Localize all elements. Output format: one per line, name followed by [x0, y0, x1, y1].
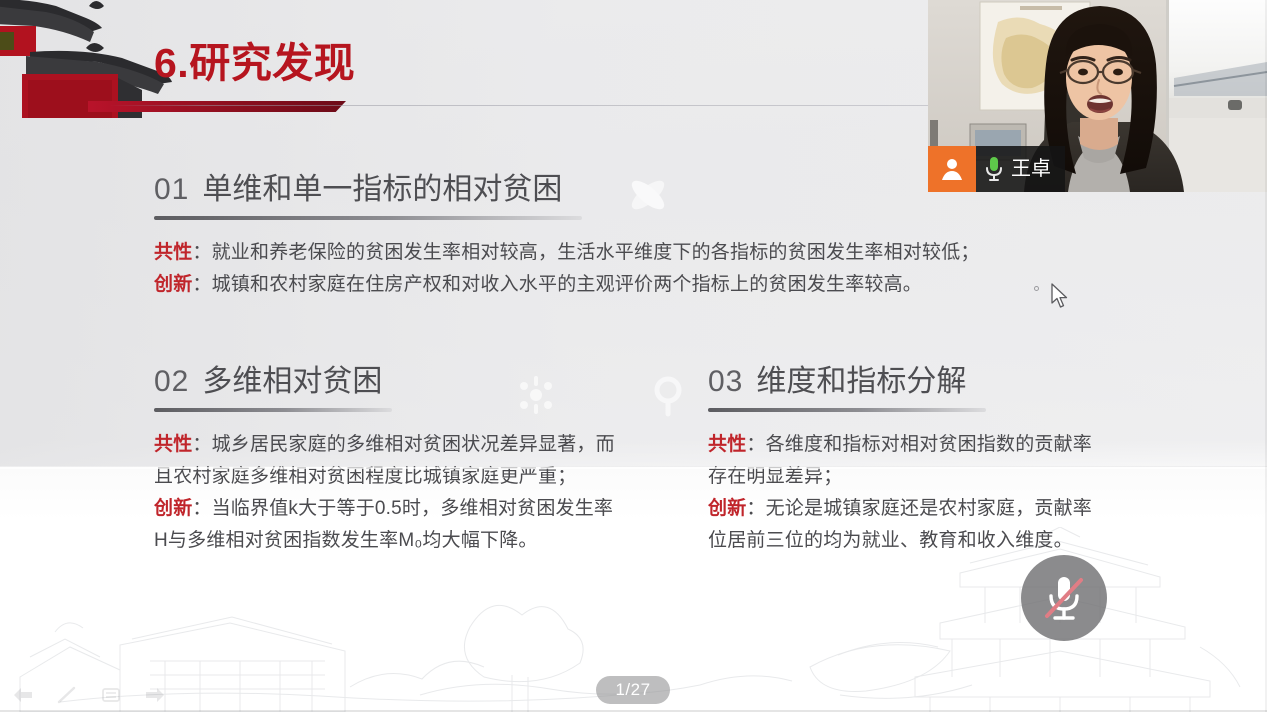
name-chip: 王卓 [976, 146, 1065, 192]
section-03-line-2: 创新：无论是城镇家庭还是农村家庭，贡献率位居前三位的均为就业、教育和收入维度。 [708, 493, 1100, 557]
section-02-line-2-tag: 创新 [154, 498, 192, 519]
section-02-body: 共性：城乡居民家庭的多维相对贫困状况差异显著，而且农村家庭多维相对贫困程度比城镇… [154, 429, 624, 557]
section-03-line-1: 共性：各维度和指标对相对贫困指数的贡献率存在明显差异； [708, 429, 1100, 493]
section-02-line-1-tag: 共性 [154, 434, 192, 455]
mute-status-button[interactable] [1021, 555, 1107, 641]
section-01-line-1-text: 就业和养老保险的贫困发生率相对较高，生活水平维度下的各指标的贫困发生率相对较低； [212, 242, 980, 263]
participant-name-strip: 王卓 [928, 146, 1065, 192]
background-seam-highlight [0, 467, 1267, 469]
section-02-line-2: 创新：当临界值k大于等于0.5时，多维相对贫困发生率H与多维相对贫困指数发生率M… [154, 493, 618, 557]
section-01-body: 共性：就业和养老保险的贫困发生率相对较高，生活水平维度下的各指标的贫困发生率相对… [154, 237, 774, 301]
microphone-icon [984, 156, 1004, 182]
section-01-number: 01 [154, 170, 189, 210]
section-02-heading: 02 多维相对贫困 [154, 362, 624, 402]
section-01-line-2-sep: ： [192, 274, 211, 295]
section-01-title: 单维和单一指标的相对贫困 [202, 170, 562, 210]
participant-video-tile[interactable]: 王卓 [928, 0, 1267, 192]
section-02-line-1: 共性：城乡居民家庭的多维相对贫困状况差异显著，而且农村家庭多维相对贫困程度比城镇… [154, 429, 618, 493]
section-02-number: 02 [154, 362, 189, 402]
section-01-line-2-tag: 创新 [154, 274, 192, 295]
section-03-line-2-tag: 创新 [708, 498, 746, 519]
section-03-body: 共性：各维度和指标对相对贫困指数的贡献率存在明显差异； 创新：无论是城镇家庭还是… [708, 429, 1108, 557]
section-03-title: 维度和指标分解 [756, 362, 966, 402]
pen-icon[interactable] [52, 682, 82, 708]
mouse-cursor [1050, 283, 1070, 309]
cursor-dot-marker [1034, 286, 1039, 291]
meeting-screen-share: 6.研究发现 01 单维和单一指标的相对贫困 共性：就业和养老保险的贫困发生率相… [0, 0, 1267, 712]
section-03-line-1-sep: ： [746, 434, 765, 455]
page-title: 6.研究发现 [154, 36, 355, 90]
section-01-heading: 01 单维和单一指标的相对贫困 [154, 170, 774, 210]
microphone-muted-icon [1040, 572, 1088, 624]
section-02-line-1-text: 城乡居民家庭的多维相对贫困状况差异显著，而且农村家庭多维相对贫困程度比城镇家庭更… [154, 434, 615, 487]
section-03: 03 维度和指标分解 共性：各维度和指标对相对贫困指数的贡献率存在明显差异； 创… [708, 362, 1108, 557]
participant-name: 王卓 [1011, 146, 1051, 192]
page-indicator[interactable]: 1/27 [596, 676, 670, 704]
section-03-line-2-sep: ： [746, 498, 765, 519]
section-01-line-1-sep: ： [192, 242, 211, 263]
slide-toolbar-icons [8, 682, 170, 708]
section-01-line-1-tag: 共性 [154, 242, 192, 263]
title-accent-bar [88, 101, 346, 112]
person-icon [939, 156, 965, 182]
section-03-heading: 03 维度和指标分解 [708, 362, 1108, 402]
section-03-line-1-text: 各维度和指标对相对贫困指数的贡献率存在明显差异； [708, 434, 1092, 487]
list-icon[interactable] [96, 682, 126, 708]
slide-toolbar: 1/27 [0, 676, 1267, 712]
back-arrow-icon[interactable] [8, 682, 38, 708]
section-02-title: 多维相对贫困 [202, 362, 382, 402]
section-03-underline [708, 408, 986, 412]
section-02-underline [154, 408, 392, 412]
section-02: 02 多维相对贫困 共性：城乡居民家庭的多维相对贫困状况差异显著，而且农村家庭多… [154, 362, 624, 557]
section-01: 01 单维和单一指标的相对贫困 共性：就业和养老保险的贫困发生率相对较高，生活水… [154, 170, 774, 301]
section-02-line-2-text: 当临界值k大于等于0.5时，多维相对贫困发生率H与多维相对贫困指数发生率M₀均大… [154, 498, 613, 551]
forward-arrow-icon[interactable] [140, 682, 170, 708]
section-01-line-2: 创新：城镇和农村家庭在住房产权和对收入水平的主观评价两个指标上的贫困发生率较高。 [154, 269, 774, 301]
section-01-line-2-text: 城镇和农村家庭在住房产权和对收入水平的主观评价两个指标上的贫困发生率较高。 [212, 274, 922, 295]
section-02-line-1-sep: ： [192, 434, 211, 455]
section-01-line-1: 共性：就业和养老保险的贫困发生率相对较高，生活水平维度下的各指标的贫困发生率相对… [154, 237, 774, 269]
section-01-underline [154, 216, 582, 220]
section-03-line-1-tag: 共性 [708, 434, 746, 455]
section-02-line-2-sep: ： [192, 498, 211, 519]
avatar [928, 146, 976, 192]
section-03-line-2-text: 无论是城镇家庭还是农村家庭，贡献率位居前三位的均为就业、教育和收入维度。 [708, 498, 1092, 551]
section-03-number: 03 [708, 362, 743, 402]
